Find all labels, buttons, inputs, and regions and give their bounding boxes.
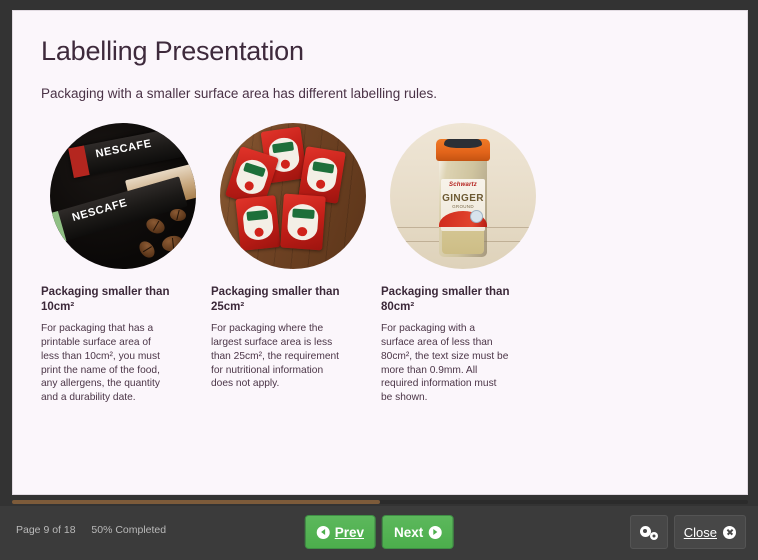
footer-tools: Close bbox=[630, 515, 746, 549]
sachet-green-stripe bbox=[50, 211, 66, 245]
ketchup-label bbox=[242, 204, 274, 241]
spice-jar: Schwartz GINGER GROUND bbox=[439, 153, 487, 257]
close-button[interactable]: Close bbox=[674, 515, 746, 549]
column-body: For packaging that has a printable surfa… bbox=[41, 322, 169, 405]
close-icon bbox=[723, 526, 736, 539]
column-body: For packaging where the largest surface … bbox=[211, 322, 339, 391]
info-column-25cm: Packaging smaller than 25cm² For packagi… bbox=[211, 123, 381, 405]
ginger-product-sub: GROUND bbox=[441, 204, 485, 209]
slide-subtitle: Packaging with a smaller surface area ha… bbox=[41, 85, 719, 104]
next-button[interactable]: Next bbox=[382, 515, 453, 549]
page-title: Labelling Presentation bbox=[41, 37, 719, 67]
chevron-right-icon bbox=[428, 526, 441, 539]
coffee-bean bbox=[136, 238, 157, 260]
gears-icon bbox=[640, 525, 658, 540]
jar-label: Schwartz GINGER GROUND bbox=[441, 179, 485, 231]
page-status: Page 9 of 18 50% Completed bbox=[16, 524, 166, 536]
nescafe-sachet-lower: NESCAFE bbox=[50, 176, 188, 244]
column-body: For packaging with a surface area of les… bbox=[381, 322, 509, 405]
info-column-10cm: NESCAFE NESCAFE Packaging smaller than bbox=[41, 123, 211, 405]
slide-content: Labelling Presentation Packaging with a … bbox=[13, 11, 747, 104]
coffee-bean bbox=[169, 208, 187, 222]
page-counter-label: Page 9 of 18 bbox=[16, 524, 76, 536]
sachet-red-stripe bbox=[68, 145, 89, 178]
player-footer: Page 9 of 18 50% Completed Prev Next bbox=[0, 506, 758, 560]
ketchup-label bbox=[305, 156, 339, 194]
chevron-left-icon bbox=[317, 526, 330, 539]
label-badge bbox=[470, 210, 483, 223]
ginger-product-name: GINGER bbox=[441, 193, 485, 204]
progress-bar-fill bbox=[12, 500, 380, 504]
prev-button-label: Prev bbox=[335, 525, 364, 540]
info-column-80cm: Schwartz GINGER GROUND Packaging smal bbox=[381, 123, 551, 405]
close-button-label: Close bbox=[684, 525, 717, 540]
nescafe-photo-canvas: NESCAFE NESCAFE bbox=[50, 123, 196, 269]
ginger-photo-canvas: Schwartz GINGER GROUND bbox=[390, 123, 536, 269]
nescafe-sachets-photo: NESCAFE NESCAFE bbox=[50, 123, 196, 269]
jar-cap bbox=[436, 139, 490, 161]
heinz-photo-canvas bbox=[220, 123, 366, 269]
column-title: Packaging smaller than 80cm² bbox=[381, 285, 541, 315]
ketchup-label bbox=[287, 203, 320, 241]
coffee-bean bbox=[144, 216, 167, 237]
presentation-player: Labelling Presentation Packaging with a … bbox=[0, 0, 758, 560]
heinz-ketchup-sachets-photo bbox=[220, 123, 366, 269]
column-title: Packaging smaller than 10cm² bbox=[41, 285, 201, 315]
navigation-buttons: Prev Next bbox=[305, 515, 454, 549]
ketchup-sachet bbox=[280, 194, 326, 251]
completion-label: 50% Completed bbox=[91, 524, 166, 536]
ketchup-label bbox=[233, 156, 271, 198]
ketchup-sachet bbox=[235, 195, 280, 251]
prev-button[interactable]: Prev bbox=[305, 515, 376, 549]
coffee-bean bbox=[161, 234, 185, 253]
nescafe-wordmark-upper: NESCAFE bbox=[95, 138, 153, 161]
slide-stage: Labelling Presentation Packaging with a … bbox=[12, 10, 748, 495]
schwartz-ginger-jar-photo: Schwartz GINGER GROUND bbox=[390, 123, 536, 269]
jar-cap-flip-top bbox=[444, 139, 482, 148]
gear-small bbox=[650, 532, 658, 540]
next-button-label: Next bbox=[394, 525, 423, 540]
schwartz-brandmark: Schwartz bbox=[441, 182, 485, 188]
column-title: Packaging smaller than 25cm² bbox=[211, 285, 371, 315]
settings-button[interactable] bbox=[630, 515, 668, 549]
progress-bar-track[interactable] bbox=[12, 500, 748, 504]
nescafe-wordmark-lower: NESCAFE bbox=[71, 197, 129, 224]
columns-container: NESCAFE NESCAFE Packaging smaller than bbox=[41, 123, 721, 405]
